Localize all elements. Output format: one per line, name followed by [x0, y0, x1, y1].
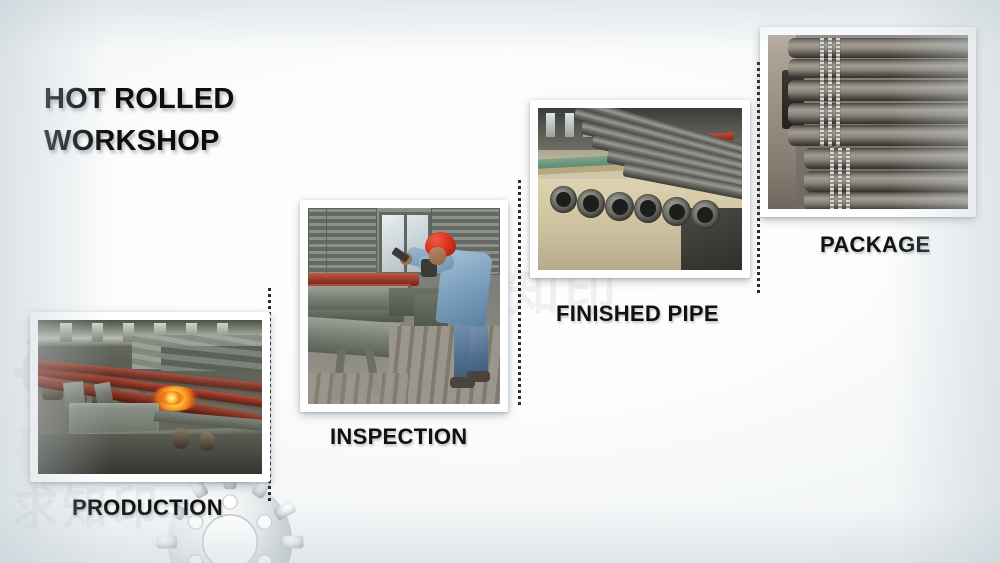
photo-card-inspection[interactable] — [300, 200, 508, 412]
step-label-production: PRODUCTION — [72, 495, 223, 521]
photo-card-package[interactable] — [760, 27, 976, 217]
step-label-package: PACKAGE — [820, 232, 930, 258]
photo-card-finished-pipe[interactable] — [530, 100, 750, 278]
connector-line-2 — [518, 180, 521, 406]
photo-finished-pipe — [538, 108, 742, 270]
step-label-inspection: INSPECTION — [330, 424, 467, 450]
photo-package — [768, 35, 968, 209]
photo-production — [38, 320, 262, 474]
step-label-finished-pipe: FINISHED PIPE — [556, 301, 719, 327]
photo-inspection — [308, 208, 500, 404]
photo-card-production[interactable] — [30, 312, 270, 482]
page-title: HOT ROLLED WORKSHOP — [44, 78, 235, 162]
slide-canvas: 求知印 求知印 — [0, 0, 1000, 563]
